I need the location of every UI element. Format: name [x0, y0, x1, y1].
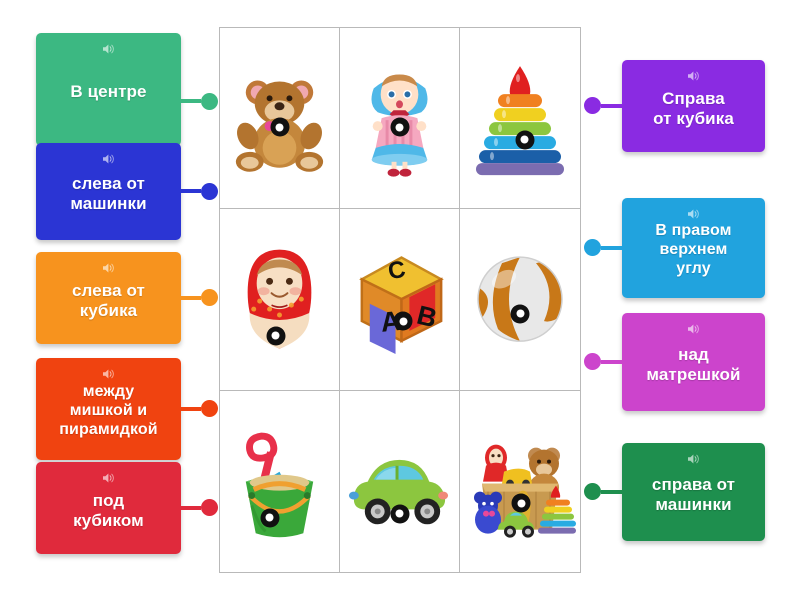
cell-bucket[interactable] [220, 391, 340, 572]
label-card-sleva-kubika[interactable]: слева от кубика [36, 252, 181, 344]
cell-doll[interactable] [340, 28, 460, 209]
label-card-sprava-kubika[interactable]: Справа от кубика [622, 60, 765, 152]
label-card-text: В центре [70, 82, 146, 102]
speaker-icon[interactable] [686, 69, 701, 81]
target-dot-marker[interactable] [511, 304, 530, 323]
cell-pyramid[interactable] [460, 28, 580, 209]
speaker-icon[interactable] [101, 367, 116, 379]
label-card-text: слева от кубика [72, 281, 145, 321]
label-card-pravyy-verkhniy[interactable]: В правом верхнем углу [622, 198, 765, 298]
ring-pyramid-image [460, 28, 580, 208]
connector-sleva-mashinki[interactable] [179, 183, 218, 200]
connector-knob[interactable] [584, 483, 601, 500]
sand-bucket-image [220, 391, 339, 572]
cell-toybox[interactable] [460, 391, 580, 572]
beach-ball-image [460, 209, 580, 389]
connector-knob[interactable] [201, 400, 218, 417]
connector-pravyy-verkhniy[interactable] [584, 239, 623, 256]
connector-sprava-mashinki[interactable] [584, 483, 623, 500]
speaker-icon[interactable] [101, 42, 116, 54]
cell-car[interactable] [340, 391, 460, 572]
activity-canvas: В центреслева от машинкислева от кубикам… [0, 0, 800, 600]
cell-block[interactable]: A B C [340, 209, 460, 390]
label-card-text: справа от машинки [652, 475, 735, 515]
label-card-text: под кубиком [73, 491, 144, 531]
connector-stem [601, 490, 623, 494]
connector-stem [601, 360, 623, 364]
connector-nad-matreshkoy[interactable] [584, 353, 623, 370]
label-card-text: между мишкой и пирамидкой [59, 383, 157, 439]
image-grid: A B C [219, 27, 581, 573]
speaker-icon[interactable] [686, 322, 701, 334]
connector-stem [601, 104, 623, 108]
matryoshka-doll-image [220, 209, 339, 389]
connector-knob[interactable] [201, 183, 218, 200]
connector-stem [179, 407, 201, 411]
target-dot-marker[interactable] [390, 118, 409, 137]
connector-stem [179, 99, 201, 103]
target-dot-marker[interactable] [390, 504, 409, 523]
connector-knob[interactable] [584, 353, 601, 370]
connector-pod-kubikom[interactable] [179, 499, 218, 516]
label-card-text: над матрешкой [646, 345, 740, 385]
connector-knob[interactable] [584, 97, 601, 114]
connector-knob[interactable] [201, 93, 218, 110]
target-dot-marker[interactable] [260, 508, 279, 527]
label-card-text: Справа от кубика [653, 89, 734, 129]
label-card-nad-matreshkoy[interactable]: над матрешкой [622, 313, 765, 411]
connector-stem [179, 506, 201, 510]
connector-v-tsentre[interactable] [179, 93, 218, 110]
connector-stem [179, 189, 201, 193]
label-card-sleva-mashinki[interactable]: слева от машинки [36, 143, 181, 240]
label-card-v-tsentre[interactable]: В центре [36, 33, 181, 146]
green-car-image [340, 391, 459, 572]
connector-knob[interactable] [201, 499, 218, 516]
speaker-icon[interactable] [101, 152, 116, 164]
connector-stem [601, 246, 623, 250]
cell-teddy-bear[interactable] [220, 28, 340, 209]
connector-knob[interactable] [201, 289, 218, 306]
connector-stem [179, 296, 201, 300]
label-card-sprava-mashinki[interactable]: справа от машинки [622, 443, 765, 541]
speaker-icon[interactable] [686, 452, 701, 464]
label-card-pod-kubikom[interactable]: под кубиком [36, 462, 181, 554]
target-dot-marker[interactable] [394, 312, 413, 331]
cell-ball[interactable] [460, 209, 580, 390]
speaker-icon[interactable] [686, 207, 701, 219]
cell-matryoshka[interactable] [220, 209, 340, 390]
label-card-text: слева от машинки [70, 174, 146, 214]
target-dot-marker[interactable] [515, 130, 534, 149]
speaker-icon[interactable] [101, 471, 116, 483]
target-dot-marker[interactable] [512, 494, 531, 513]
toy-box-image [460, 391, 580, 572]
target-dot-marker[interactable] [270, 118, 289, 137]
connector-sprava-kubika[interactable] [584, 97, 623, 114]
speaker-icon[interactable] [101, 261, 116, 273]
label-card-text: В правом верхнем углу [655, 222, 731, 278]
target-dot-marker[interactable] [266, 326, 285, 345]
alphabet-block-image: A B C [340, 209, 459, 389]
connector-mezhdu[interactable] [179, 400, 218, 417]
connector-sleva-kubika[interactable] [179, 289, 218, 306]
connector-knob[interactable] [584, 239, 601, 256]
label-card-mezhdu[interactable]: между мишкой и пирамидкой [36, 358, 181, 460]
